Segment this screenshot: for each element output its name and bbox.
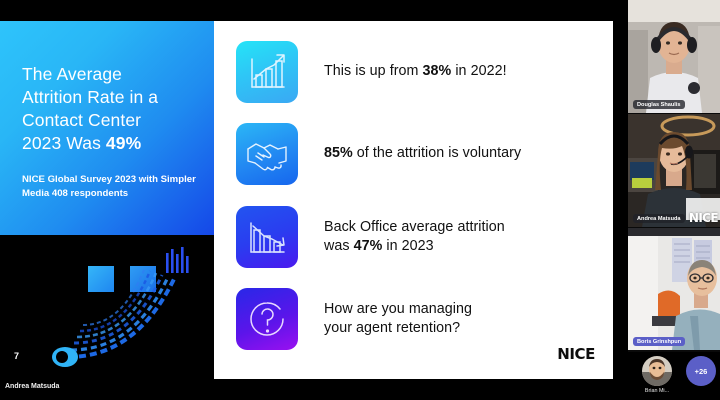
slide-title-panel: The Average Attrition Rate in a Contact …: [0, 21, 214, 235]
bullet-text: How are you managing your agent retentio…: [324, 300, 472, 338]
bullet-0-part-1: This is up from: [324, 63, 423, 79]
title-line-1: The Average: [22, 64, 122, 84]
overflow-participants-badge[interactable]: +26: [686, 356, 716, 386]
participant-name-tag: Andrea Matsuda: [633, 214, 685, 223]
bullet-0-part-3: in 2022!: [451, 63, 506, 79]
bullet-2-part-3: in 2023: [382, 238, 433, 254]
bullet-1-part-2: of the attrition is voluntary: [353, 145, 521, 161]
smiley-face-graphic: [0, 235, 214, 379]
bullet-row: Back Office average attrition was 47% in…: [236, 203, 606, 271]
presenter-name-label: Andrea Matsuda: [5, 383, 59, 390]
slide-title-column: The Average Attrition Rate in a Contact …: [0, 21, 214, 379]
slide-page-number: 7: [14, 351, 19, 361]
video-feed: [628, 0, 720, 113]
title-line-3: Contact Center: [22, 110, 141, 130]
bullet-0-value: 38%: [423, 63, 452, 79]
bullet-text: This is up from 38% in 2022!: [324, 62, 507, 81]
presentation-slide: The Average Attrition Rate in a Contact …: [0, 21, 613, 379]
title-highlight-value: 49%: [106, 133, 141, 153]
video-tile-andrea-matsuda[interactable]: NICE Andrea Matsuda: [628, 114, 720, 227]
participant-video-rail: Douglas Shaulis: [628, 0, 720, 400]
video-tile-boris-grinshpun[interactable]: Boris Grinshpun: [628, 228, 720, 350]
bullet-row: How are you managing your agent retentio…: [236, 285, 606, 353]
video-tile-douglas-shaulis[interactable]: Douglas Shaulis: [628, 0, 720, 113]
avatar-image: [642, 356, 672, 386]
bullet-row: 85% of the attrition is voluntary: [236, 120, 606, 188]
slide-subtitle: NICE Global Survey 2023 with Simpler Med…: [22, 173, 202, 201]
smiley-mouth-icon: [16, 245, 214, 375]
nice-brand-logo: NICE: [557, 345, 595, 363]
bullet-2-part-1: was: [324, 238, 354, 254]
participant-name-tag: Douglas Shaulis: [633, 100, 685, 109]
slide-bullets-column: This is up from 38% in 2022!: [214, 21, 613, 379]
participant-name-tag: Boris Grinshpun: [633, 337, 685, 346]
bullet-2-value: 47%: [354, 238, 383, 254]
bullet-3-line-2: your agent retention?: [324, 320, 460, 336]
shared-screen-region: The Average Attrition Rate in a Contact …: [0, 0, 628, 400]
bar-chart-down-icon: [236, 206, 298, 268]
meeting-screen: The Average Attrition Rate in a Contact …: [0, 0, 720, 400]
slide-title: The Average Attrition Rate in a Contact …: [22, 63, 200, 155]
video-feed: [628, 228, 720, 350]
title-line-2: Attrition Rate in a: [22, 87, 158, 107]
bullet-text: Back Office average attrition was 47% in…: [324, 218, 505, 256]
question-mark-icon: [236, 288, 298, 350]
bar-chart-up-icon: [236, 41, 298, 103]
bullet-1-value: 85%: [324, 145, 353, 161]
avatar-name-label: Brian Mi...: [634, 388, 680, 394]
handshake-icon: [236, 123, 298, 185]
title-line-4: 2023 Was: [22, 133, 106, 153]
bullet-row: This is up from 38% in 2022!: [236, 38, 606, 106]
bullet-2-line-1: Back Office average attrition: [324, 219, 505, 235]
bullet-text: 85% of the attrition is voluntary: [324, 144, 521, 163]
nice-logo-overlay: NICE: [689, 211, 718, 225]
avatar[interactable]: [642, 356, 672, 386]
bullet-3-line-1: How are you managing: [324, 301, 472, 317]
participant-overflow-strip: Brian Mi... +26: [628, 352, 720, 400]
